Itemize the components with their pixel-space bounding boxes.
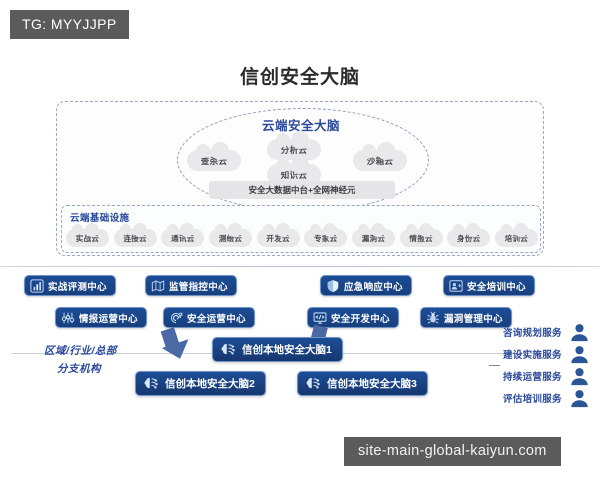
infra-cloud-item: 通讯云 — [161, 229, 204, 247]
arrow-down-left — [155, 324, 199, 367]
infra-cloud-item: 培训云 — [495, 229, 538, 247]
center-pill-label: 监管指控中心 — [169, 279, 228, 293]
infra-cloud-item: 连接云 — [114, 229, 157, 247]
infrastructure-panel: 云端基础设施 实战云 连接云 通讯云 测绘云 开发云 专家云 漏洞云 情报云 身… — [61, 205, 541, 253]
scope-label-region: 区域/行业/总部 — [44, 343, 117, 358]
infra-cloud-item: 实战云 — [66, 229, 109, 247]
center-pill-label: 漏洞管理中心 — [444, 311, 503, 325]
radar-hand-icon — [169, 311, 183, 325]
person-icon — [569, 366, 590, 386]
center-pill-label: 应急响应中心 — [344, 279, 403, 293]
infrastructure-heading: 云端基础设施 — [70, 210, 129, 224]
service-label: 建设实施服务 — [503, 347, 562, 361]
person-icon — [569, 344, 590, 364]
center-pill-shizhan-pingce[interactable]: 实战评测中心 — [24, 275, 116, 296]
center-pill-label: 安全培训中心 — [467, 279, 526, 293]
scope-label-branch: 分支机构 — [57, 361, 101, 376]
tg-tag-overlay: TG: MYYJJPP — [10, 10, 129, 39]
local-brain-pill-1[interactable]: 信创本地安全大脑1 — [212, 337, 343, 362]
brain-icon — [219, 341, 237, 359]
person-icon — [569, 388, 590, 408]
training-person-icon — [449, 279, 463, 293]
center-pill-label: 安全运营中心 — [187, 311, 246, 325]
region-divider-top — [0, 266, 600, 267]
infra-cloud-item: 测绘云 — [209, 229, 252, 247]
center-pill-jianguan-zhikong[interactable]: 监管指控中心 — [145, 275, 237, 296]
service-row-assessment: 评估培训服务 — [503, 388, 590, 408]
infra-cloud-item: 身份云 — [447, 229, 490, 247]
service-label: 持续运营服务 — [503, 369, 562, 383]
code-monitor-icon — [313, 311, 327, 325]
site-watermark-overlay: site-main-global-kaiyun.com — [344, 437, 561, 466]
page-title: 信创安全大脑 — [0, 62, 600, 89]
center-pill-loudong-guanli[interactable]: 漏洞管理中心 — [420, 307, 512, 328]
shield-icon — [326, 279, 340, 293]
map-grid-icon — [151, 279, 165, 293]
local-brain-label: 信创本地安全大脑2 — [165, 376, 255, 391]
service-row-consulting: 咨询规划服务 — [503, 322, 590, 342]
brain-icon — [304, 375, 322, 393]
local-brain-label: 信创本地安全大脑3 — [327, 376, 417, 391]
infra-cloud-item: 情报云 — [400, 229, 443, 247]
service-label: 咨询规划服务 — [503, 325, 562, 339]
local-brain-label: 信创本地安全大脑1 — [242, 342, 332, 357]
cloud-node-shaxiang: 沙箱云 — [353, 150, 407, 171]
cloud-node-chasha: 查杀云 — [187, 150, 241, 171]
center-pill-anquan-peixun[interactable]: 安全培训中心 — [443, 275, 535, 296]
sliders-icon — [61, 311, 75, 325]
data-platform-bar: 安全大数据中台+全网神经元 — [209, 181, 395, 199]
brain-icon — [142, 375, 160, 393]
center-pill-label: 安全开发中心 — [331, 311, 390, 325]
service-row-operations: 持续运营服务 — [503, 366, 590, 386]
infrastructure-cloud-row: 实战云 连接云 通讯云 测绘云 开发云 专家云 漏洞云 情报云 身份云 培训云 — [66, 226, 538, 250]
center-pill-label: 情报运营中心 — [79, 311, 138, 325]
diagram-canvas: TG: MYYJJPP 信创安全大脑 云端安全大脑 查杀云 分析云 知识云 沙箱… — [0, 0, 600, 480]
bar-chart-icon — [30, 279, 44, 293]
infra-cloud-item: 漏洞云 — [352, 229, 395, 247]
service-axis-tick — [489, 365, 500, 366]
bug-icon — [426, 311, 440, 325]
service-label: 评估培训服务 — [503, 391, 562, 405]
center-pill-yingji-xiangying[interactable]: 应急响应中心 — [320, 275, 412, 296]
infra-cloud-item: 专家云 — [304, 229, 347, 247]
local-brain-pill-2[interactable]: 信创本地安全大脑2 — [135, 371, 266, 396]
center-pill-qingbao-yunying[interactable]: 情报运营中心 — [55, 307, 147, 328]
service-row-implementation: 建设实施服务 — [503, 344, 590, 364]
local-brain-pill-3[interactable]: 信创本地安全大脑3 — [297, 371, 428, 396]
center-pill-label: 实战评测中心 — [48, 279, 107, 293]
infra-cloud-item: 开发云 — [257, 229, 300, 247]
person-icon — [569, 322, 590, 342]
cloud-section-panel: 云端安全大脑 查杀云 分析云 知识云 沙箱云 安全大数据中台+全网神经元 云端基… — [56, 101, 544, 256]
